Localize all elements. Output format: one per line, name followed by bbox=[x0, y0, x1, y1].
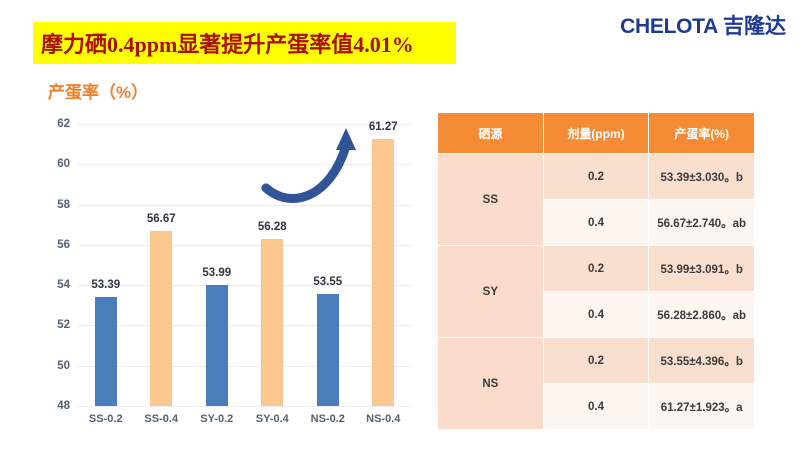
gridline: 48 bbox=[78, 406, 411, 407]
cell-egg-production-rate: 56.28±2.860。ab bbox=[649, 292, 755, 338]
logo-chinese-text: 吉隆达 bbox=[723, 15, 786, 38]
column-header-dose: 剂量(ppm) bbox=[543, 113, 649, 154]
bar-value-label: 53.39 bbox=[91, 279, 120, 291]
cell-egg-production-rate: 53.39±3.030。b bbox=[649, 154, 755, 200]
x-axis-tick-label: SS-0.4 bbox=[144, 413, 178, 425]
chart-plot-area: 4850525456586062 53.39SS-0.256.67SS-0.45… bbox=[78, 124, 411, 406]
table-body: SS0.253.39±3.030。b0.456.67±2.740。abSY0.2… bbox=[438, 154, 755, 430]
cell-dose: 0.2 bbox=[543, 154, 649, 200]
y-axis-tick-label: 58 bbox=[57, 199, 70, 211]
bar-value-label: 61.27 bbox=[369, 121, 398, 133]
results-table: 硒源 剂量(ppm) 产蛋率(%) SS0.253.39±3.030。b0.45… bbox=[437, 112, 755, 430]
bar[interactable] bbox=[261, 239, 283, 406]
bar-group[interactable]: 53.39SS-0.2 bbox=[78, 124, 134, 406]
table-row: SY0.253.99±3.091。b bbox=[438, 246, 755, 292]
column-header-source: 硒源 bbox=[438, 113, 544, 154]
table-row: NS0.253.55±4.396。b bbox=[438, 338, 755, 384]
bar-group[interactable]: 56.28SY-0.4 bbox=[245, 124, 301, 406]
table-head: 硒源 剂量(ppm) 产蛋率(%) bbox=[438, 113, 755, 154]
x-axis-tick-label: SS-0.2 bbox=[89, 413, 123, 425]
bar-value-label: 56.28 bbox=[258, 221, 287, 233]
bar[interactable] bbox=[95, 297, 117, 406]
y-axis-tick-label: 62 bbox=[57, 118, 70, 130]
cell-egg-production-rate: 53.55±4.396。b bbox=[649, 338, 755, 384]
x-axis-tick-label: SY-0.4 bbox=[256, 413, 289, 425]
column-header-rate: 产蛋率(%) bbox=[649, 113, 755, 154]
bar[interactable] bbox=[206, 285, 228, 406]
cell-selenium-source: NS bbox=[438, 338, 544, 430]
bar-value-label: 53.99 bbox=[202, 267, 231, 279]
slide-title: 摩力硒0.4ppm显著提升产蛋率值4.01% bbox=[33, 27, 414, 59]
bar-group[interactable]: 56.67SS-0.4 bbox=[134, 124, 190, 406]
cell-dose: 0.4 bbox=[543, 200, 649, 246]
bar-group[interactable]: 61.27NS-0.4 bbox=[356, 124, 412, 406]
x-axis-tick-label: NS-0.4 bbox=[366, 413, 400, 425]
cell-dose: 0.4 bbox=[543, 292, 649, 338]
bar-group[interactable]: 53.99SY-0.2 bbox=[189, 124, 245, 406]
cell-egg-production-rate: 53.99±3.091。b bbox=[649, 246, 755, 292]
cell-dose: 0.4 bbox=[543, 384, 649, 430]
title-banner: 摩力硒0.4ppm显著提升产蛋率值4.01% bbox=[33, 22, 456, 64]
bar[interactable] bbox=[150, 231, 172, 406]
cell-dose: 0.2 bbox=[543, 338, 649, 384]
slide-canvas: CHELOTA吉隆达 摩力硒0.4ppm显著提升产蛋率值4.01% 产蛋率（%）… bbox=[0, 0, 800, 463]
bar[interactable] bbox=[372, 139, 394, 406]
y-axis-tick-label: 60 bbox=[57, 158, 70, 170]
results-table-container: 硒源 剂量(ppm) 产蛋率(%) SS0.253.39±3.030。b0.45… bbox=[437, 112, 755, 430]
x-axis-tick-label: NS-0.2 bbox=[311, 413, 345, 425]
bar-value-label: 53.55 bbox=[313, 276, 342, 288]
y-axis-tick-label: 48 bbox=[57, 400, 70, 412]
brand-logo: CHELOTA吉隆达 bbox=[620, 10, 786, 40]
bar-value-label: 56.67 bbox=[147, 213, 176, 225]
bar[interactable] bbox=[317, 294, 339, 406]
cell-selenium-source: SS bbox=[438, 154, 544, 246]
logo-latin-text: CHELOTA bbox=[620, 15, 718, 38]
table-row: SS0.253.39±3.030。b bbox=[438, 154, 755, 200]
table-header-row: 硒源 剂量(ppm) 产蛋率(%) bbox=[438, 113, 755, 154]
cell-egg-production-rate: 61.27±1.923。a bbox=[649, 384, 755, 430]
y-axis-tick-label: 54 bbox=[57, 279, 70, 291]
chart-title: 产蛋率（%） bbox=[48, 78, 148, 103]
cell-selenium-source: SY bbox=[438, 246, 544, 338]
cell-dose: 0.2 bbox=[543, 246, 649, 292]
cell-egg-production-rate: 56.67±2.740。ab bbox=[649, 200, 755, 246]
bar-chart: 4850525456586062 53.39SS-0.256.67SS-0.45… bbox=[30, 110, 430, 425]
bar-group[interactable]: 53.55NS-0.2 bbox=[300, 124, 356, 406]
x-axis-tick-label: SY-0.2 bbox=[200, 413, 233, 425]
y-axis-tick-label: 52 bbox=[57, 319, 70, 331]
y-axis-tick-label: 50 bbox=[57, 360, 70, 372]
y-axis-tick-label: 56 bbox=[57, 239, 70, 251]
